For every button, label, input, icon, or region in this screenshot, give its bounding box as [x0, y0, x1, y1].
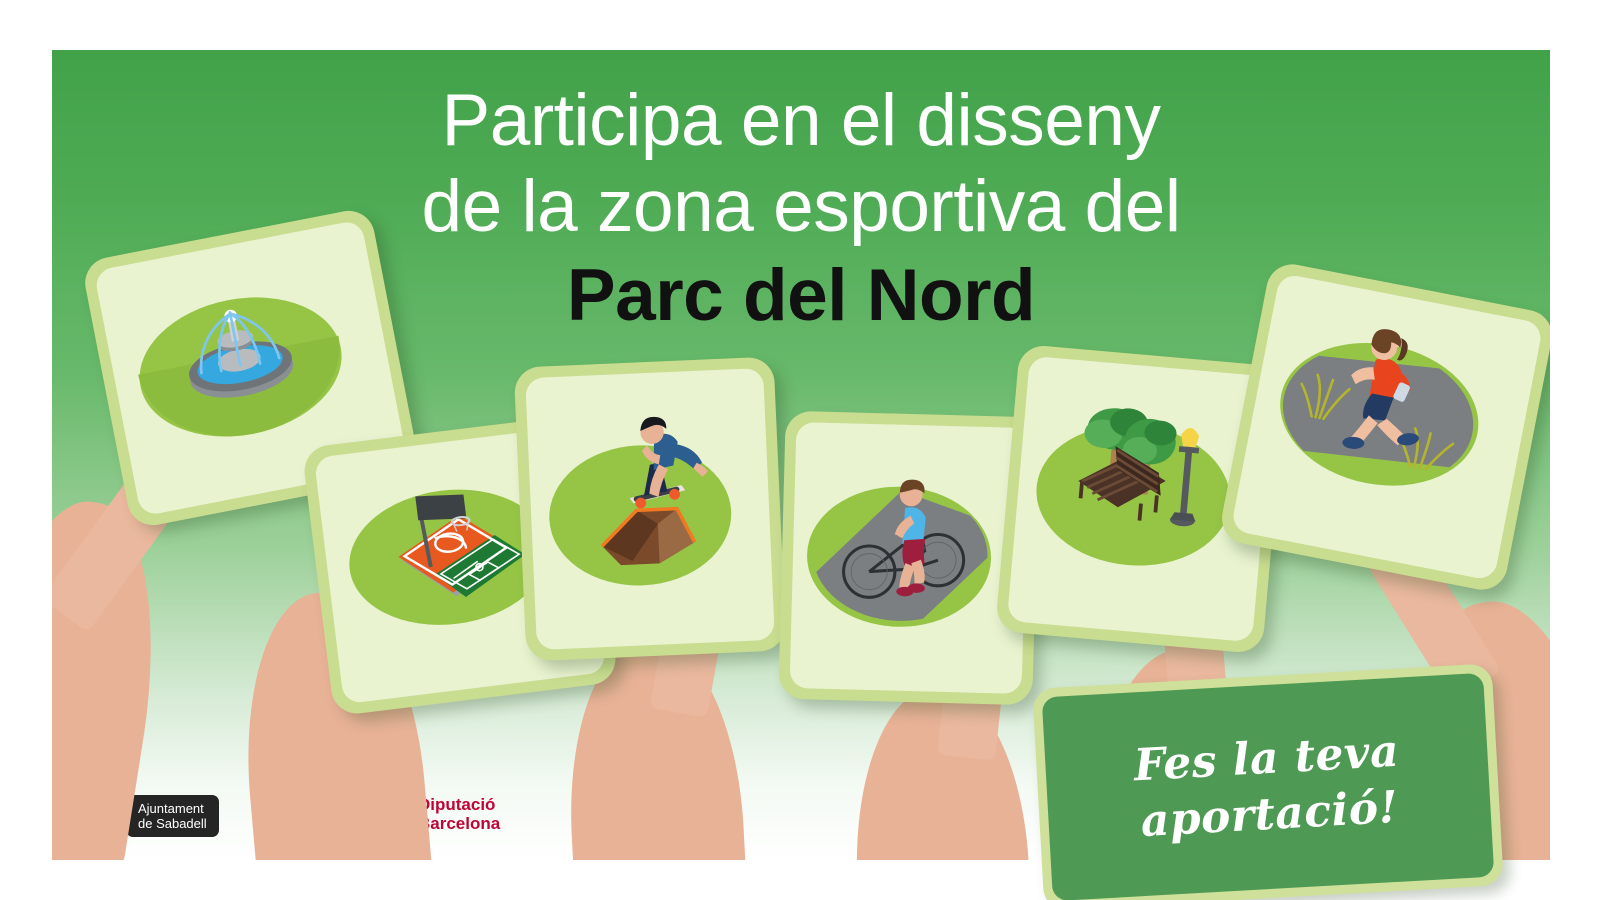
title-line-1: Participa en el disseny	[52, 50, 1550, 164]
card-face	[790, 422, 1029, 694]
card-runner[interactable]	[1218, 260, 1550, 594]
cta-text: Fes la teva aportació!	[1132, 724, 1403, 851]
poster-stage: Participa en el disseny de la zona espor…	[0, 0, 1600, 900]
park-bench-icon	[1026, 379, 1237, 575]
card-skate[interactable]	[514, 356, 787, 661]
cta-line-2: aportació!	[1139, 782, 1399, 847]
cta-card[interactable]: Fes la teva aportació!	[1032, 663, 1504, 900]
cyclist-icon	[803, 450, 998, 645]
runner-icon	[1261, 298, 1500, 507]
cta-inner: Fes la teva aportació!	[1042, 673, 1495, 900]
card-face	[1230, 273, 1543, 581]
skateboarder-icon	[541, 405, 741, 593]
card-face	[525, 368, 775, 650]
cta-line-1: Fes la teva	[1133, 726, 1401, 792]
